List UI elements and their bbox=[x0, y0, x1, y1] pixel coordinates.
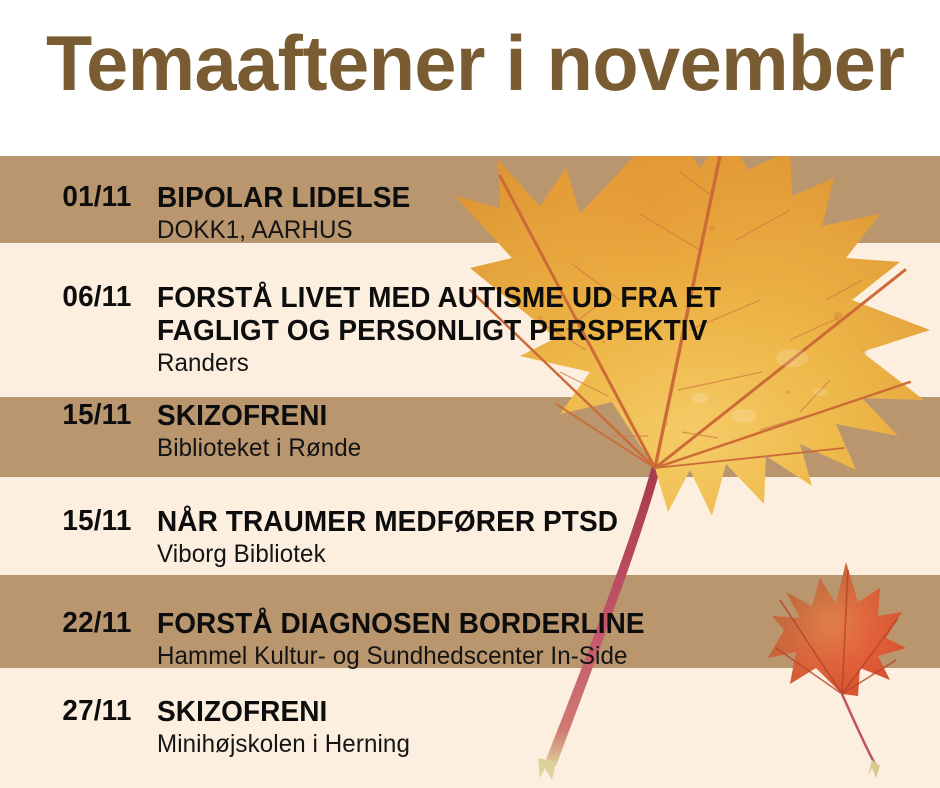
event-row[interactable]: 15/11SKIZOFRENIBiblioteket i Rønde bbox=[0, 400, 940, 462]
poster-header: Temaaftener i november bbox=[0, 0, 940, 156]
event-title: FORSTÅ DIAGNOSEN BORDERLINE bbox=[157, 608, 913, 641]
event-row[interactable]: 15/11NÅR TRAUMER MEDFØRER PTSDViborg Bib… bbox=[0, 506, 940, 568]
event-venue: Minihøjskolen i Herning bbox=[157, 730, 913, 758]
event-venue: DOKK1, AARHUS bbox=[157, 216, 913, 244]
event-row[interactable]: 27/11SKIZOFRENIMinihøjskolen i Herning bbox=[0, 696, 940, 758]
event-date: 01/11 bbox=[0, 182, 151, 212]
event-row[interactable]: 22/11FORSTÅ DIAGNOSEN BORDERLINEHammel K… bbox=[0, 608, 940, 670]
event-row[interactable]: 01/11BIPOLAR LIDELSEDOKK1, AARHUS bbox=[0, 182, 940, 244]
event-date: 15/11 bbox=[0, 506, 151, 536]
event-body: SKIZOFRENIBiblioteket i Rønde bbox=[157, 400, 940, 462]
event-title: SKIZOFRENI bbox=[157, 400, 913, 433]
event-title: SKIZOFRENI bbox=[157, 696, 913, 729]
event-title: BIPOLAR LIDELSE bbox=[157, 182, 913, 215]
event-date: 22/11 bbox=[0, 608, 151, 638]
event-date: 06/11 bbox=[0, 282, 151, 312]
event-venue: Viborg Bibliotek bbox=[157, 540, 913, 568]
event-body: FORSTÅ LIVET MED AUTISME UD FRA ET FAGLI… bbox=[157, 282, 940, 377]
poster-canvas: Temaaftener i november 01/11BIPOLAR LIDE… bbox=[0, 0, 940, 788]
event-venue: Biblioteket i Rønde bbox=[157, 434, 913, 462]
event-title: FORSTÅ LIVET MED AUTISME UD FRA ET FAGLI… bbox=[157, 282, 913, 348]
event-body: FORSTÅ DIAGNOSEN BORDERLINEHammel Kultur… bbox=[157, 608, 940, 670]
event-body: NÅR TRAUMER MEDFØRER PTSDViborg Bibliote… bbox=[157, 506, 940, 568]
event-date: 27/11 bbox=[0, 696, 151, 726]
event-date: 15/11 bbox=[0, 400, 151, 430]
page-title: Temaaftener i november bbox=[46, 24, 904, 102]
event-row[interactable]: 06/11FORSTÅ LIVET MED AUTISME UD FRA ET … bbox=[0, 282, 940, 377]
event-body: BIPOLAR LIDELSEDOKK1, AARHUS bbox=[157, 182, 940, 244]
event-venue: Hammel Kultur- og Sundhedscenter In-Side bbox=[157, 642, 913, 670]
event-body: SKIZOFRENIMinihøjskolen i Herning bbox=[157, 696, 940, 758]
event-title: NÅR TRAUMER MEDFØRER PTSD bbox=[157, 506, 913, 539]
event-venue: Randers bbox=[157, 349, 913, 377]
